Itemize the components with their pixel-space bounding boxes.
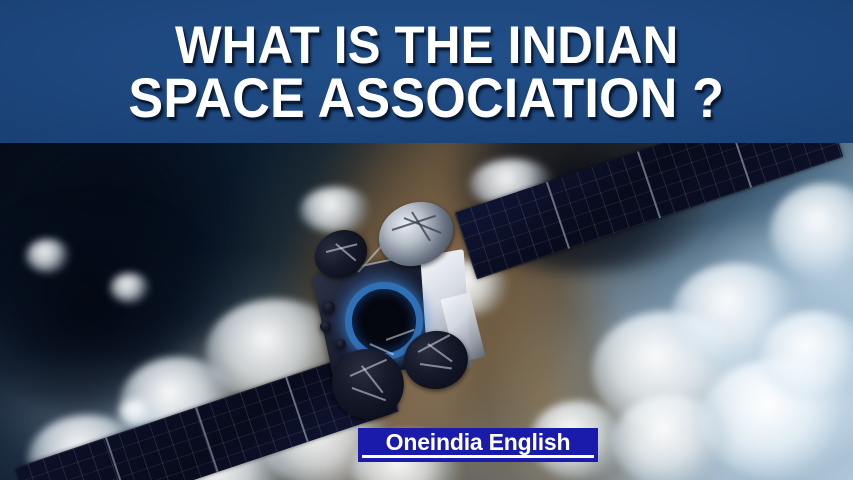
channel-watermark-badge: Oneindia English xyxy=(358,428,598,462)
thruster-nozzle-icon xyxy=(322,301,335,314)
watermark-underline xyxy=(362,455,594,458)
title-banner: WHAT IS THE INDIAN SPACE ASSOCIATION ? xyxy=(0,0,853,143)
headline-block: WHAT IS THE INDIAN SPACE ASSOCIATION ? xyxy=(0,0,853,143)
headline-line-1: WHAT IS THE INDIAN xyxy=(175,20,679,72)
thruster-nozzle-icon xyxy=(320,321,331,332)
video-thumbnail: WHAT IS THE INDIAN SPACE ASSOCIATION ? xyxy=(0,0,853,480)
channel-name-label: Oneindia English xyxy=(386,431,571,454)
solar-panel-right xyxy=(455,143,843,279)
thruster-nozzle-icon xyxy=(336,339,346,349)
headline-line-2: SPACE ASSOCIATION ? xyxy=(129,70,725,125)
